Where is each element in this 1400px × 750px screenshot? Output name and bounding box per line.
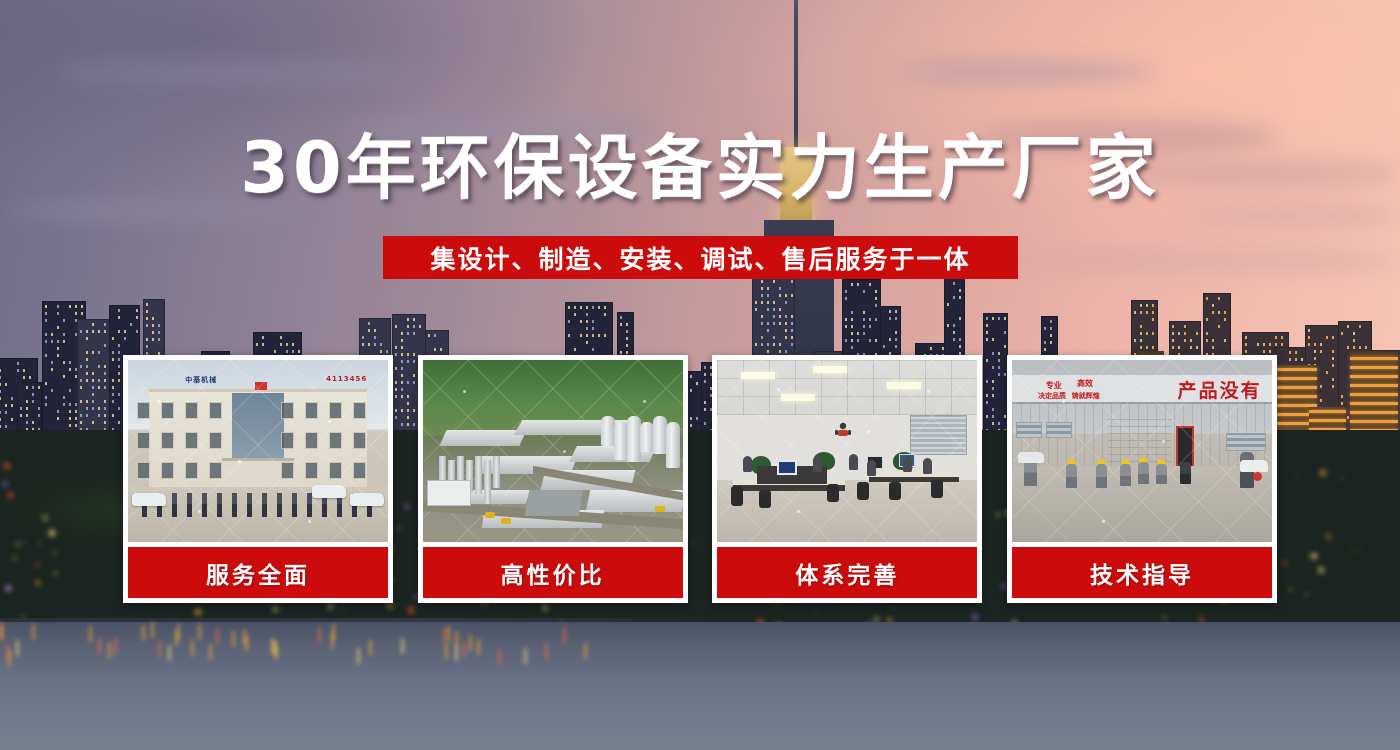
monitor-screen (777, 460, 797, 475)
staff-figure (187, 493, 192, 517)
building-window (305, 462, 318, 479)
photo-ground (128, 487, 388, 542)
ceiling-light (741, 372, 775, 379)
flag-icon (255, 382, 267, 390)
excavator-shape (501, 518, 511, 524)
ceiling-light (781, 394, 815, 401)
office-chair (759, 490, 771, 508)
cloud-shape (900, 60, 1160, 84)
building-window (137, 432, 150, 449)
workshop-window (1226, 433, 1266, 451)
office-worker-figure (867, 460, 876, 476)
building-window (185, 402, 198, 419)
subtitle-banner: 集设计、制造、安装、调试、售后服务于一体 (383, 236, 1018, 279)
office-ceiling (717, 360, 977, 415)
building-window (137, 462, 150, 479)
building-window (209, 462, 222, 479)
worker-figure (1066, 464, 1077, 488)
office-chair (857, 482, 869, 500)
staff-figure (172, 493, 177, 517)
building-window (353, 432, 366, 449)
staff-figure (217, 493, 222, 517)
shed-shape (427, 480, 471, 506)
feature-card-label-text: 体系完善 (795, 556, 899, 590)
car-shape (312, 485, 346, 498)
worker-figure (1096, 464, 1107, 488)
aerial-plant-photo (423, 360, 683, 542)
stack-shape (475, 456, 482, 494)
silo-shape (614, 422, 628, 460)
building-window (161, 402, 174, 419)
silo-shape (666, 422, 680, 468)
ceiling-light (813, 366, 847, 373)
feature-card-label-text: 服务全面 (206, 556, 310, 590)
building-window (281, 432, 294, 449)
car-shape (350, 493, 384, 506)
building-window (353, 462, 366, 479)
building-window (353, 402, 366, 419)
feature-card[interactable]: 产品没有 专业 高效 铸就辉煌 决定品质 技术指导 (1007, 355, 1277, 603)
hard-hat-icon (1121, 459, 1130, 464)
building-window (329, 402, 342, 419)
staff-figure (262, 493, 267, 517)
building-window (161, 462, 174, 479)
ceiling-light (887, 382, 921, 389)
workshop-slogan-3: 铸就辉煌 (1072, 391, 1100, 401)
building-window (281, 402, 294, 419)
car-shape (1018, 452, 1044, 463)
office-chair (731, 486, 743, 506)
red-helmet-held (1253, 472, 1262, 481)
hard-hat-icon (1157, 459, 1166, 464)
car-shape (132, 493, 166, 506)
wall-logo-decal (832, 420, 854, 440)
workshop-window (1046, 422, 1072, 438)
building-window (305, 432, 318, 449)
workshop-slogan-1: 专业 (1046, 380, 1062, 391)
office-worker-figure (903, 456, 912, 472)
office-window-blinds (910, 415, 967, 455)
office-interior-photo (717, 360, 977, 542)
company-phone-text: 4113456 (326, 375, 367, 383)
excavator-shape (655, 506, 665, 512)
workshop-slogan-2: 高效 (1077, 378, 1093, 389)
building-window (329, 432, 342, 449)
feature-card-label: 技术指导 (1012, 547, 1272, 598)
workshop-window (1016, 422, 1042, 438)
feature-card[interactable]: 高性价比 (418, 355, 688, 603)
company-headquarters-photo: 中基机械 4113456 (128, 360, 388, 542)
stack-shape (484, 460, 491, 504)
car-shape (1240, 460, 1268, 472)
hard-hat-icon (1139, 457, 1148, 462)
building-window (329, 462, 342, 479)
company-sign-text: 中基机械 (185, 375, 217, 385)
building-window (209, 432, 222, 449)
cloud-shape (60, 60, 420, 86)
silo-shape (601, 416, 615, 446)
technical-training-photo: 产品没有 专业 高效 铸就辉煌 决定品质 (1012, 360, 1272, 542)
silo-shape (640, 422, 654, 452)
building-window (305, 402, 318, 419)
office-chair (889, 482, 901, 500)
hard-hat-icon (1097, 459, 1106, 464)
staff-figure (247, 493, 252, 517)
feature-card-label: 体系完善 (717, 547, 977, 598)
hard-hat-icon (1067, 459, 1076, 464)
building-window (185, 462, 198, 479)
page-title: 30年环保设备实力生产厂家 (0, 133, 1400, 203)
feature-card-label-text: 高性价比 (501, 556, 605, 590)
building-window (161, 432, 174, 449)
building-window (281, 462, 294, 479)
feature-card[interactable]: 中基机械 4113456 服务全面 (123, 355, 393, 603)
staff-figure (202, 493, 207, 517)
building-window (137, 402, 150, 419)
staff-figure (292, 493, 297, 517)
feature-card-label-text: 技术指导 (1090, 556, 1194, 590)
workshop-slogan-4: 决定品质 (1038, 391, 1066, 401)
worker-figure (1120, 464, 1131, 486)
worker-figure (1156, 464, 1167, 484)
office-chair (931, 480, 943, 498)
office-chair (827, 484, 839, 502)
river-water (0, 622, 1400, 750)
silo-shape (653, 416, 667, 454)
feature-card[interactable]: 体系完善 (712, 355, 982, 603)
worker-figure (1180, 462, 1191, 484)
shed-shape (524, 490, 583, 516)
feature-card-row: 中基机械 4113456 服务全面 高性价比 (123, 355, 1277, 603)
staff-figure (232, 493, 237, 517)
building-window (185, 432, 198, 449)
office-desk-top (869, 472, 959, 477)
excavator-shape (485, 512, 495, 518)
feature-card-label: 高性价比 (423, 547, 683, 598)
office-worker-figure (743, 456, 752, 472)
staff-figure (307, 493, 312, 517)
subtitle-text: 集设计、制造、安装、调试、售后服务于一体 (430, 240, 970, 276)
cloud-shape (1180, 205, 1400, 227)
conveyor-structure (439, 430, 526, 446)
office-worker-figure (813, 456, 822, 472)
workshop-headline-text: 产品没有 (1178, 376, 1262, 403)
stack-shape (493, 456, 500, 488)
feature-card-label: 服务全面 (128, 547, 388, 598)
hero-banner: 30年环保设备实力生产厂家 集设计、制造、安装、调试、售后服务于一体 中基机械 … (0, 0, 1400, 750)
worker-figure (1138, 462, 1149, 484)
building-window (209, 402, 222, 419)
silo-shape (627, 416, 641, 462)
office-worker-figure (923, 458, 932, 474)
office-worker-figure (849, 454, 858, 470)
staff-figure (277, 493, 282, 517)
